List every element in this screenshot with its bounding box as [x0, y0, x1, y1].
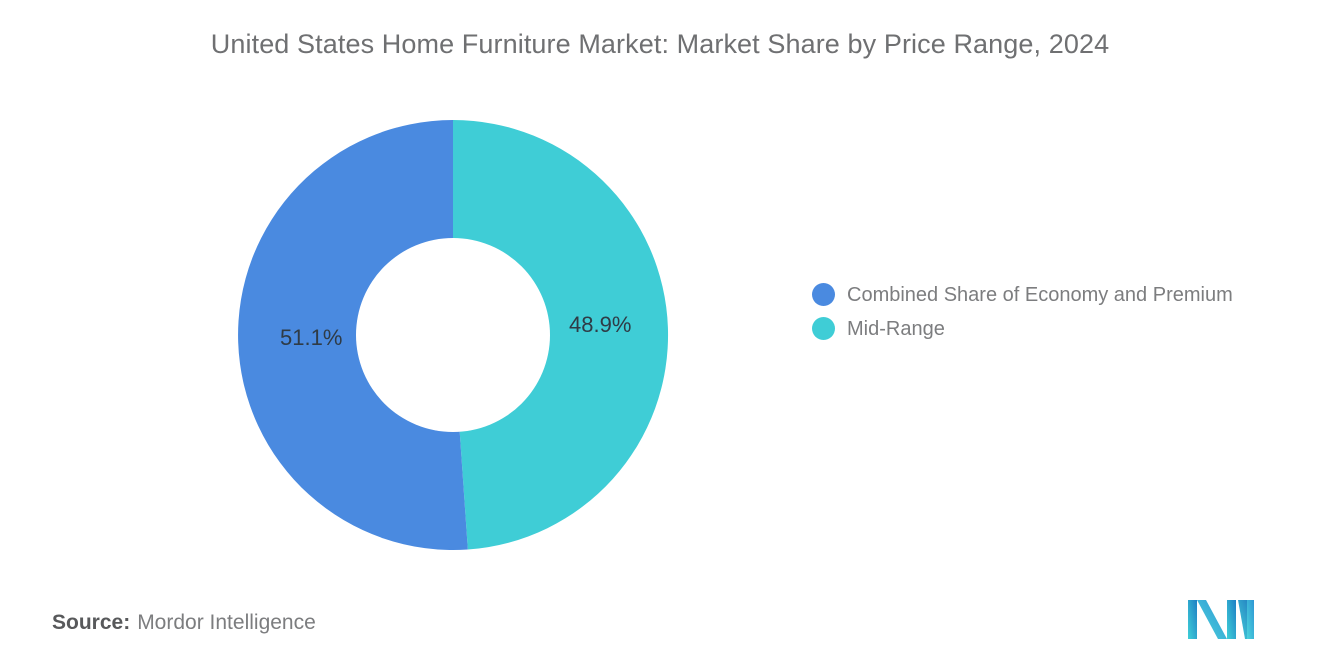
legend-swatch-blue-icon — [812, 283, 835, 306]
chart-plot-area: 51.1% 48.9% Combined Share of Economy an… — [0, 0, 1320, 665]
legend-label-mid-range: Mid-Range — [847, 319, 945, 339]
donut-chart: 51.1% 48.9% — [238, 120, 668, 550]
chart-legend: Combined Share of Economy and Premium Mi… — [812, 283, 1233, 340]
mordor-intelligence-logo-icon — [1186, 597, 1256, 639]
source-label: Source: — [52, 611, 130, 634]
mi-monogram-icon — [1186, 597, 1256, 639]
legend-item-combined-economy-premium[interactable]: Combined Share of Economy and Premium — [812, 283, 1233, 306]
source-value: Mordor Intelligence — [137, 611, 316, 634]
legend-label-combined-economy-premium: Combined Share of Economy and Premium — [847, 285, 1233, 305]
slice-label-mid-range: 48.9% — [569, 312, 631, 338]
donut-center-hole — [356, 238, 550, 432]
slice-label-combined-economy-premium: 51.1% — [280, 325, 342, 351]
legend-item-mid-range[interactable]: Mid-Range — [812, 317, 1233, 340]
source-attribution: Source:Mordor Intelligence — [52, 612, 316, 633]
legend-swatch-teal-icon — [812, 317, 835, 340]
